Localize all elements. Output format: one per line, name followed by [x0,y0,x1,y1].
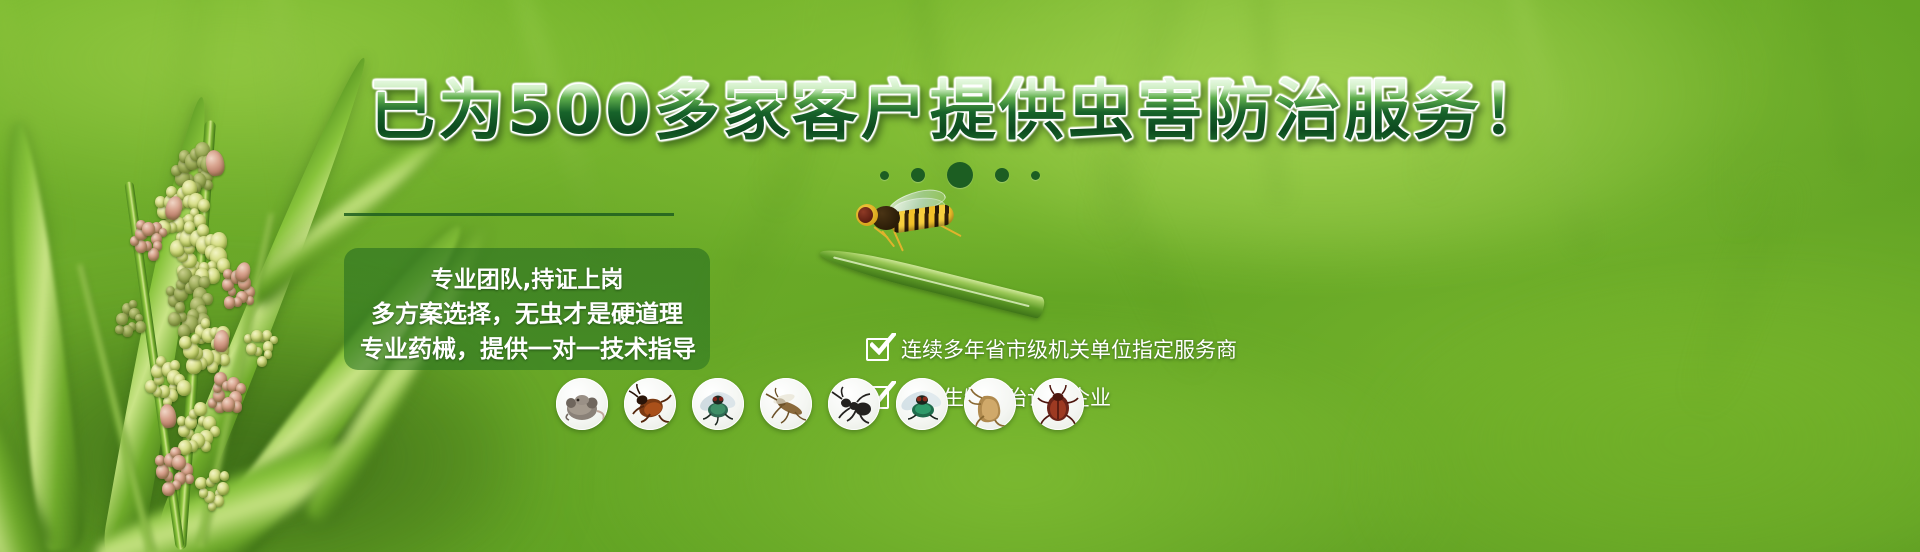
claim-line-3: 专业药械，提供一对一技术指导 [360,329,694,364]
ant-icon [828,378,880,430]
dot-medium-icon [995,168,1009,182]
plant-floret [224,296,236,309]
plant-floret [198,199,211,213]
plant-floret [222,397,236,412]
plant-floret [115,325,123,334]
housefly-icon [692,378,744,430]
hoverfly-eye [858,207,873,223]
plant-floret [195,477,207,490]
plant-floret [129,300,136,308]
credential-label: 连续多年省市级机关单位指定服务商 [901,334,1237,364]
plant-floret [135,321,146,333]
bedbug-icon [1032,378,1084,430]
plant-floret [177,380,191,396]
dot-large-icon [947,162,973,188]
plant-floret [251,330,262,342]
headline-text: 已为500多家客户提供虫害防治服务！ [369,78,1551,144]
dot-small-icon [880,171,889,180]
page-title: 已为500多家客户提供虫害防治服务！ [0,78,1920,144]
divider-line [344,213,674,216]
decorative-dots [0,160,1920,190]
blowfly-icon [896,378,948,430]
cockroach-icon [624,378,676,430]
plant-floret [194,402,207,416]
plant-floret [257,356,268,368]
plant-floret [246,343,257,355]
checkbox-check-icon [866,338,889,361]
plant-floret [185,474,194,484]
plant-floret [116,313,127,325]
plant-floret [179,336,192,350]
plant-floret [199,488,207,497]
claims-panel: 专业团队,持证上岗 多方案选择，无虫才是硬道理 专业药械，提供一对一技术指导 [344,248,710,370]
dot-medium-icon [911,168,925,182]
dot-small-icon [1031,171,1040,180]
plant-floret [168,312,181,326]
claim-line-1: 专业团队,持证上岗 [360,260,694,294]
plant-floret [201,318,211,328]
list-item: 连续多年省市级机关单位指定服务商 [866,334,1237,364]
pest-icon-row [556,378,1084,430]
plant-floret [175,302,185,313]
hoverfly-on-leaf-icon [820,190,1050,300]
plant-floret [217,482,229,496]
plant-floret [142,222,155,236]
hoverfly-body [852,196,960,244]
promo-banner: 已为500多家客户提供虫害防治服务！ 专业团队,持证上岗 多方案选择，无虫才是硬… [0,0,1920,552]
hoverfly-head [856,204,878,226]
plant-floret [162,482,175,496]
mosquito-icon [760,378,812,430]
rodent-mouse-icon [556,378,608,430]
claim-line-2: 多方案选择，无虫才是硬道理 [360,294,694,329]
flea-icon [964,378,1016,430]
